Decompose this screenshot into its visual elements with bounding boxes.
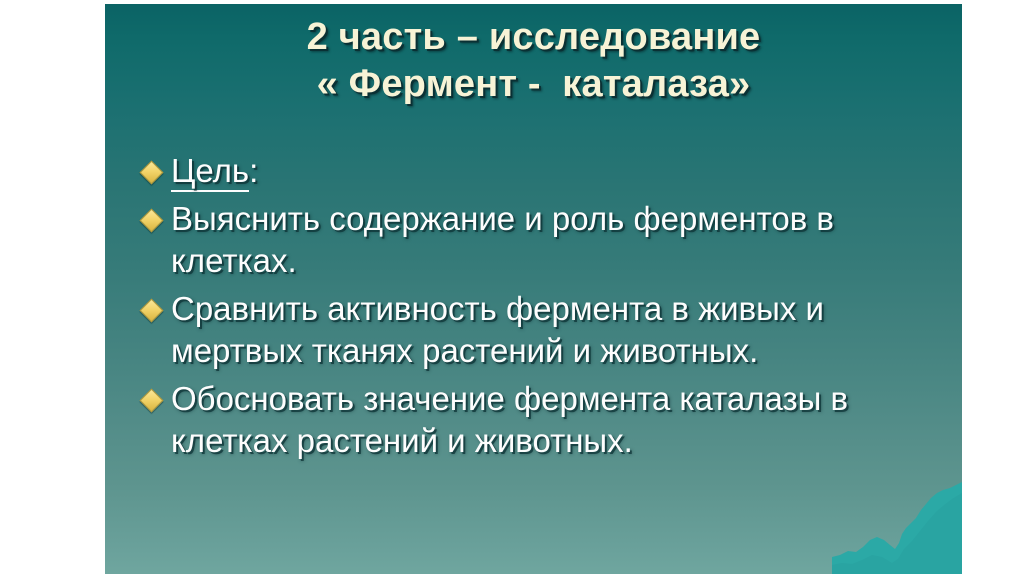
list-item-text: Выяснить содержание и роль ферментов в к…: [171, 198, 943, 282]
diamond-bullet-icon: [143, 150, 171, 181]
list-item-text: Сравнить активность фермента в живых и м…: [171, 288, 943, 372]
diamond-bullet-icon: [143, 288, 171, 319]
diamond-bullet-icon: [143, 378, 171, 409]
list-item-text: Обосновать значение фермента каталазы в …: [171, 378, 943, 462]
slide-title: 2 часть – исследование « Фермент - катал…: [105, 14, 962, 108]
list-item: Сравнить активность фермента в живых и м…: [143, 288, 943, 372]
slide-body-list: Цель: Выяснить содержание и роль фермент…: [143, 150, 943, 462]
list-item-goal-label: Цель:: [171, 150, 943, 192]
list-item-goal: Цель:: [143, 150, 943, 192]
slide-title-line-1: 2 часть – исследование: [105, 14, 962, 61]
slide-title-line-2: « Фермент - каталаза»: [105, 61, 962, 108]
slide-stage: 2 часть – исследование « Фермент - катал…: [0, 0, 1024, 574]
diamond-bullet-icon: [143, 198, 171, 229]
list-item: Выяснить содержание и роль ферментов в к…: [143, 198, 943, 282]
goal-underlined-word: Цель: [171, 152, 249, 192]
goal-colon: :: [249, 152, 258, 189]
list-item: Обосновать значение фермента каталазы в …: [143, 378, 943, 462]
mountain-silhouette-icon: [832, 479, 962, 574]
presentation-slide: 2 часть – исследование « Фермент - катал…: [105, 4, 962, 574]
